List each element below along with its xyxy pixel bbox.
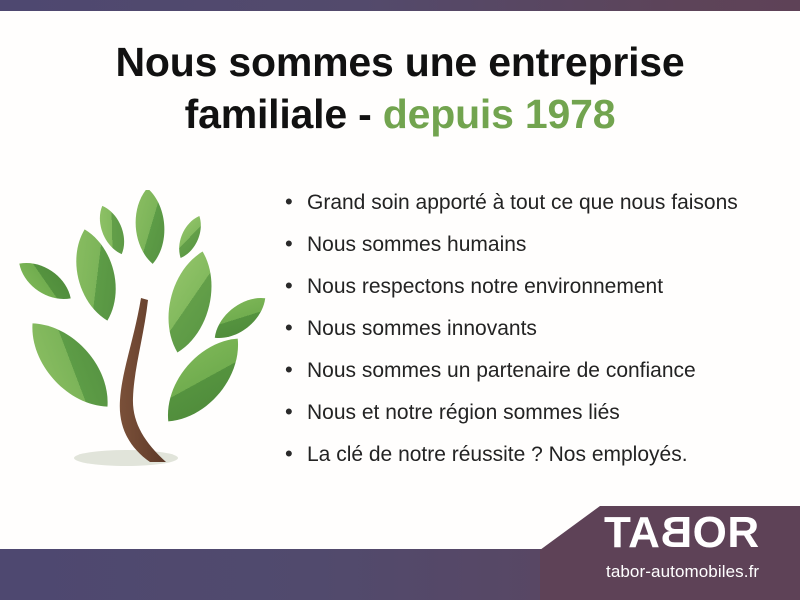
tree-leaf	[18, 254, 77, 309]
bullet-marker-icon: •	[285, 233, 307, 255]
wordmark-part-1: TA	[604, 508, 660, 557]
bullet-marker-icon: •	[285, 401, 307, 423]
list-item: • Nous respectons notre environnement	[285, 274, 765, 316]
tree-shadow	[74, 450, 178, 466]
list-item-label: Nous sommes un partenaire de confiance	[307, 358, 696, 383]
list-item-label: Nous et notre région sommes liés	[307, 400, 620, 425]
list-item: • Nous et notre région sommes liés	[285, 400, 765, 442]
bullet-marker-icon: •	[285, 275, 307, 297]
wordmark-part-2: OR	[693, 508, 760, 557]
list-item: • Grand soin apporté à tout ce que nous …	[285, 190, 765, 232]
top-accent-bar	[0, 0, 800, 11]
headline-line-1: Nous sommes une entreprise	[116, 39, 685, 85]
tree-leaf	[158, 247, 221, 357]
list-item: • Nous sommes un partenaire de confiance	[285, 358, 765, 400]
bullet-marker-icon: •	[285, 359, 307, 381]
tree-leaf	[152, 325, 254, 435]
list-item-label: La clé de notre réussite ? Nos employés.	[307, 442, 688, 467]
list-item: • Nous sommes humains	[285, 232, 765, 274]
bullet-marker-icon: •	[285, 317, 307, 339]
tree-icon	[18, 190, 268, 490]
list-item-label: Grand soin apporté à tout ce que nous fa…	[307, 190, 738, 215]
tree-leaf	[133, 190, 167, 265]
list-item-label: Nous sommes humains	[307, 232, 526, 257]
list-item: • La clé de notre réussite ? Nos employé…	[285, 442, 765, 484]
page-title: Nous sommes une entreprise familiale - d…	[60, 36, 740, 141]
tree-leaf	[18, 309, 124, 421]
list-item-label: Nous sommes innovants	[307, 316, 537, 341]
tree-leaf	[207, 289, 268, 347]
brand-website-url: tabor-automobiles.fr	[606, 563, 759, 580]
list-item-label: Nous respectons notre environnement	[307, 274, 663, 299]
value-list: • Grand soin apporté à tout ce que nous …	[285, 190, 765, 484]
brand-logo-wordmark: TABOR	[604, 511, 760, 555]
wordmark-flipped-b: B	[660, 511, 692, 555]
list-item: • Nous sommes innovants	[285, 316, 765, 358]
slide-canvas: Nous sommes une entreprise familiale - d…	[0, 0, 800, 600]
headline-line-2-plain: familiale -	[185, 91, 383, 137]
tree-illustration	[18, 190, 268, 490]
bullet-marker-icon: •	[285, 191, 307, 213]
bullet-marker-icon: •	[285, 443, 307, 465]
headline-line-2-accent: depuis 1978	[383, 91, 616, 137]
tree-trunk	[120, 298, 166, 462]
